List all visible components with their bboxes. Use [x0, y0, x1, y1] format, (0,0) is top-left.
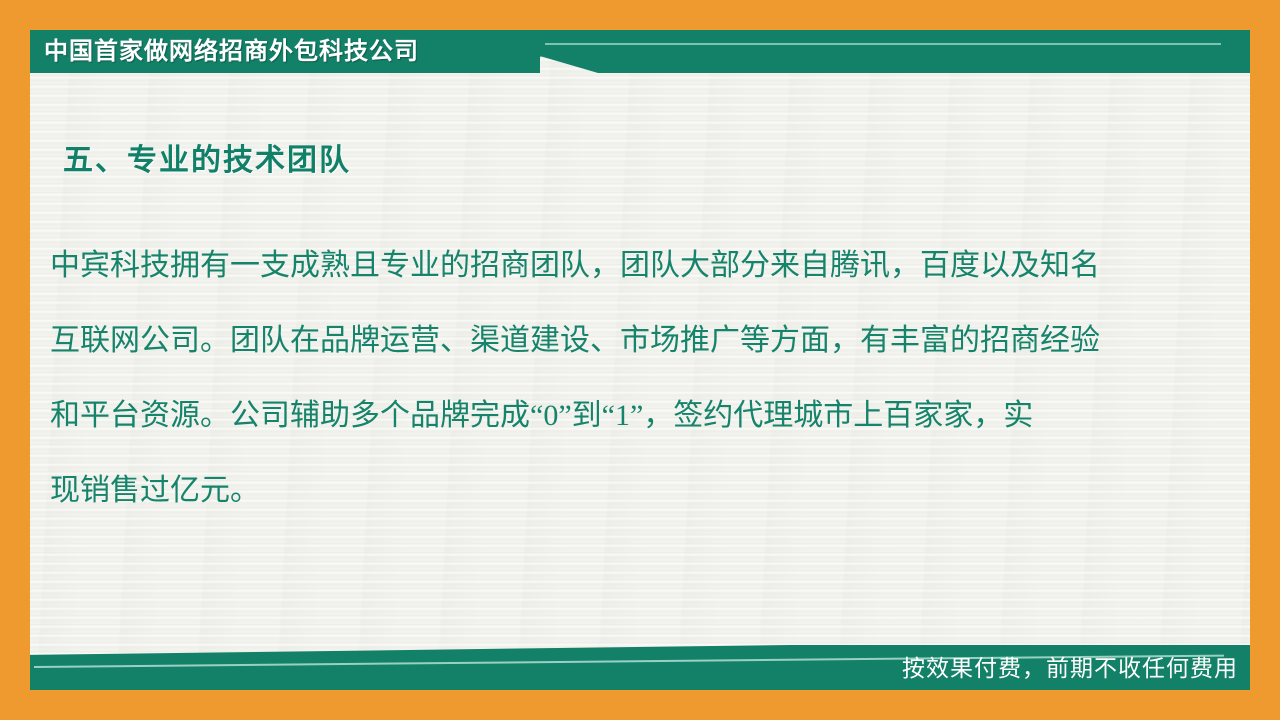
header-hairline-rule — [545, 43, 1221, 45]
header-title-text: 中国首家做网络招商外包科技公司 — [44, 31, 419, 73]
frame-edge-top — [0, 0, 1280, 30]
section-heading: 五、专业的技术团队 — [63, 135, 351, 179]
body-line: 互联网公司。团队在品牌运营、渠道建设、市场推广等方面，有丰富的招商经验 — [50, 303, 1190, 378]
presentation-slide: 中国首家做网络招商外包科技公司 五、专业的技术团队 中宾科技拥有一支成熟且专业的… — [0, 0, 1280, 720]
frame-edge-bottom — [0, 690, 1280, 720]
body-line: 中宾科技拥有一支成熟且专业的招商团队，团队大部分来自腾讯，百度以及知名 — [50, 228, 1190, 303]
frame-edge-right — [1250, 0, 1280, 720]
frame-edge-left — [0, 0, 30, 720]
body-line: 现销售过亿元。 — [50, 453, 1190, 528]
footer-tagline: 按效果付费，前期不收任何费用 — [902, 648, 1238, 688]
body-line: 和平台资源。公司辅助多个品牌完成“0”到“1”，签约代理城市上百家家，实 — [50, 378, 1190, 453]
body-paragraph: 中宾科技拥有一支成熟且专业的招商团队，团队大部分来自腾讯，百度以及知名 互联网公… — [50, 228, 1190, 528]
